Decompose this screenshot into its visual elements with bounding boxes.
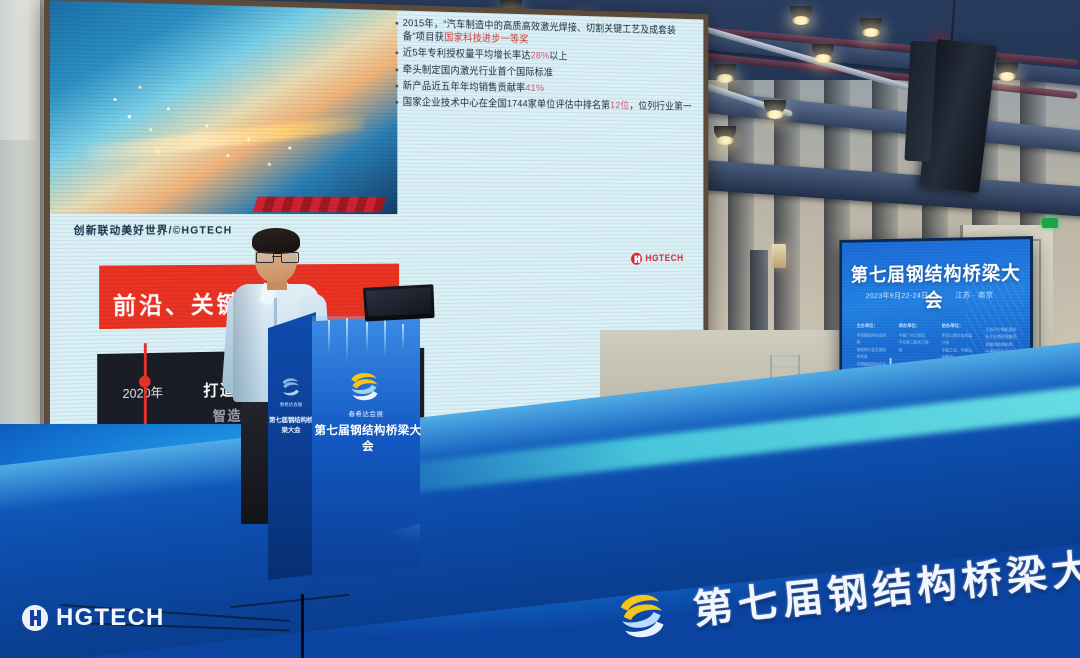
- slide-slogan: 创新联动美好世界/©HGTECH: [74, 222, 233, 238]
- watermark-text: HGTECH: [56, 604, 165, 632]
- presenter-hair: [252, 228, 300, 254]
- spotlight-icon: [764, 100, 786, 114]
- hgtech-watermark: HGTECH: [22, 604, 165, 632]
- bullet-highlight: 28%: [531, 50, 550, 62]
- list-item: 新产品近五年年均销售贡献率41%: [396, 79, 694, 98]
- hgtech-mark-icon: [22, 605, 48, 631]
- organizer-line: 中铁广州工程局: [899, 331, 932, 338]
- bullet-dot-icon: [396, 101, 399, 104]
- list-item: 国家企业技术中心在全国1744家单位评估中排名第12位，位列行业第一: [396, 95, 694, 113]
- stage-floor-logo: [609, 581, 677, 649]
- podium-side-event-title: 第七届钢结构桥梁大会: [268, 414, 314, 434]
- conference-date: 2023年9月22-24日: [866, 290, 929, 301]
- organizer-line: 中国公路学会桥梁分会: [942, 331, 976, 346]
- bullet-text-after: ，位列行业第一: [629, 100, 691, 112]
- organizer-line: 钢结构分会及钢结构桥梁: [857, 346, 890, 361]
- bullet-dot-icon: [396, 84, 399, 87]
- podium-side-org-name: 春希达会展: [270, 402, 312, 408]
- bullet-highlight: 12位: [610, 100, 629, 111]
- spotlight-icon: [812, 44, 834, 58]
- podium-event-title: 第七届钢结构桥梁大会: [312, 422, 424, 454]
- podium-logo: [344, 366, 386, 406]
- organizer-header: 协办单位：: [942, 323, 976, 329]
- laptop: [363, 284, 435, 321]
- organizer-line: 浙江东南网架集团: [985, 333, 1020, 341]
- bullet-highlight: 国家科技进步一等奖: [444, 32, 528, 45]
- organizer-line: 中交第二航务工程局: [899, 339, 932, 354]
- bullet-text: 国家企业技术中心在全国1744家单位评估中排名第: [403, 96, 610, 111]
- bullet-dot-icon: [396, 52, 399, 55]
- hgtech-logo-text: HGTECH: [645, 253, 683, 263]
- bullet-text: 牵头制定国内激光行业首个国际标准: [403, 63, 553, 77]
- podium-org-name: 春希达会展: [334, 408, 398, 418]
- spotlight-icon: [714, 126, 736, 140]
- podium-side-panel: 春希达会展 第七届钢结构桥梁大会: [268, 312, 316, 580]
- organizer-line: 安徽鸿路钢结构: [985, 341, 1020, 349]
- lectern-podium: 春希达会展 第七届钢结构桥梁大会 春希达会展 第七届钢结构桥梁大会: [268, 312, 420, 584]
- timeline-marker-line: [144, 343, 147, 433]
- conference-title: 第七届钢结构桥梁大会: [842, 258, 1030, 313]
- slide-bullet-list: 2015年，“汽车制造中的高质高效激光焊接、切割关键工艺及成套装备”项目获国家科…: [396, 16, 694, 116]
- spotlight-icon: [860, 18, 882, 32]
- wall-sconce-light: [772, 244, 786, 268]
- slide-hero-photo-laser-welding: [50, 0, 397, 214]
- hgtech-mark-icon: [631, 253, 642, 265]
- bullet-dot-icon: [396, 22, 399, 25]
- bullet-dot-icon: [396, 68, 399, 71]
- organizer-line: 江苏沪宁钢机股份: [985, 326, 1020, 334]
- spotlight-icon: [996, 62, 1018, 76]
- bullet-text-after: 以上: [549, 51, 567, 63]
- exit-sign-icon: [1042, 218, 1058, 228]
- organizer-header: 主办单位：: [857, 323, 890, 329]
- podium-side-logo: [278, 374, 304, 399]
- eyeglasses-icon: [256, 252, 297, 261]
- spotlight-icon: [790, 6, 812, 20]
- conference-photo-scene: 2015年，“汽车制造中的高质高效激光焊接、切割关键工艺及成套装备”项目获国家科…: [0, 0, 1080, 658]
- bullet-text: 新产品近五年年均销售贡献率: [403, 80, 526, 94]
- organizer-header: 承办单位：: [899, 323, 932, 329]
- bullet-text: 近5年专利授权量平均增长率达: [403, 47, 531, 61]
- slide-brand-logo: HGTECH: [631, 253, 683, 265]
- list-item: 2015年，“汽车制造中的高质高效激光焊接、切割关键工艺及成套装备”项目获国家科…: [396, 16, 694, 50]
- conference-location: 江苏 · 南京: [955, 289, 993, 300]
- spotlight-icon: [714, 64, 736, 78]
- bullet-highlight: 41%: [525, 82, 544, 94]
- organizer-line: 中国钢结构协会桥梁: [857, 331, 890, 346]
